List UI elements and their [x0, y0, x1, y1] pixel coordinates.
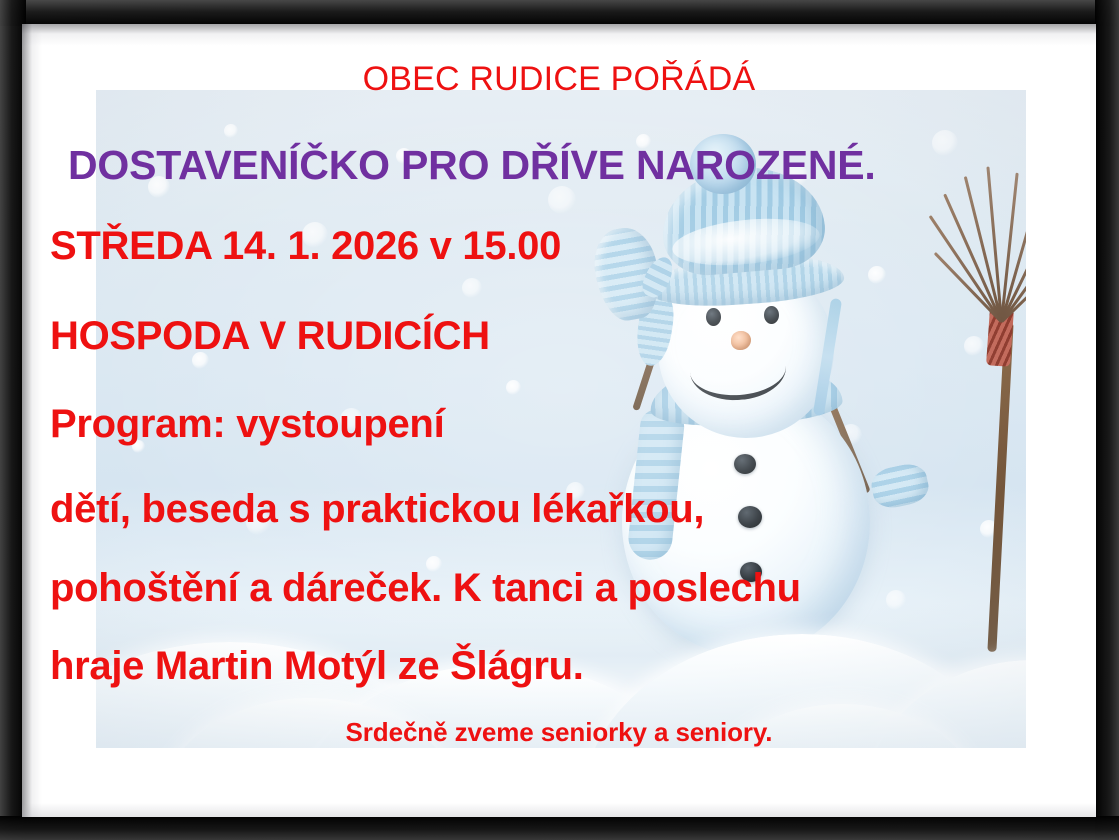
event-date-time: STŘEDA 14. 1. 2026 v 15.00: [50, 224, 561, 269]
broom-handle: [987, 322, 1013, 652]
event-venue: HOSPODA V RUDICÍCH: [50, 314, 490, 359]
welcome-note: Srdečně zveme seniorky a seniory.: [22, 717, 1096, 748]
snowflake-icon: [548, 186, 576, 214]
frame-bevel-bottom: [0, 816, 1119, 840]
snowman-eye-icon: [764, 306, 779, 324]
frame-bevel-right: [1095, 0, 1119, 840]
poster-mat: OBEC RUDICE POŘÁDÁ DOSTAVENÍČKO PRO DŘÍV…: [22, 24, 1096, 817]
snowman-eye-icon: [706, 308, 721, 326]
program-line: Program: vystoupení: [50, 402, 444, 447]
program-line: pohoštění a dáreček. K tanci a poslechu: [50, 566, 801, 611]
organizer-title: OBEC RUDICE POŘÁDÁ: [22, 60, 1096, 99]
mat-shadow-top: [22, 24, 1096, 46]
frame-bevel-top: [0, 0, 1119, 26]
snowman-button: [734, 454, 756, 474]
mat-shadow-left: [22, 24, 42, 817]
snowflake-icon: [506, 380, 521, 395]
mat-shadow-bottom: [22, 803, 1096, 817]
event-headline: DOSTAVENÍČKO PRO DŘÍVE NAROZENÉ.: [68, 142, 876, 189]
snowman-right-mitten-icon: [868, 461, 931, 512]
snowflake-icon: [462, 278, 482, 298]
program-line: dětí, beseda s praktickou lékařkou,: [50, 487, 704, 532]
snowflake-icon: [224, 124, 238, 138]
program-line: hraje Martin Motýl ze Šlágru.: [50, 644, 584, 689]
broom-icon: [918, 172, 1026, 652]
poster-root: OBEC RUDICE POŘÁDÁ DOSTAVENÍČKO PRO DŘÍV…: [0, 0, 1119, 840]
snowflake-icon: [932, 130, 958, 156]
snowman-button: [738, 506, 762, 528]
